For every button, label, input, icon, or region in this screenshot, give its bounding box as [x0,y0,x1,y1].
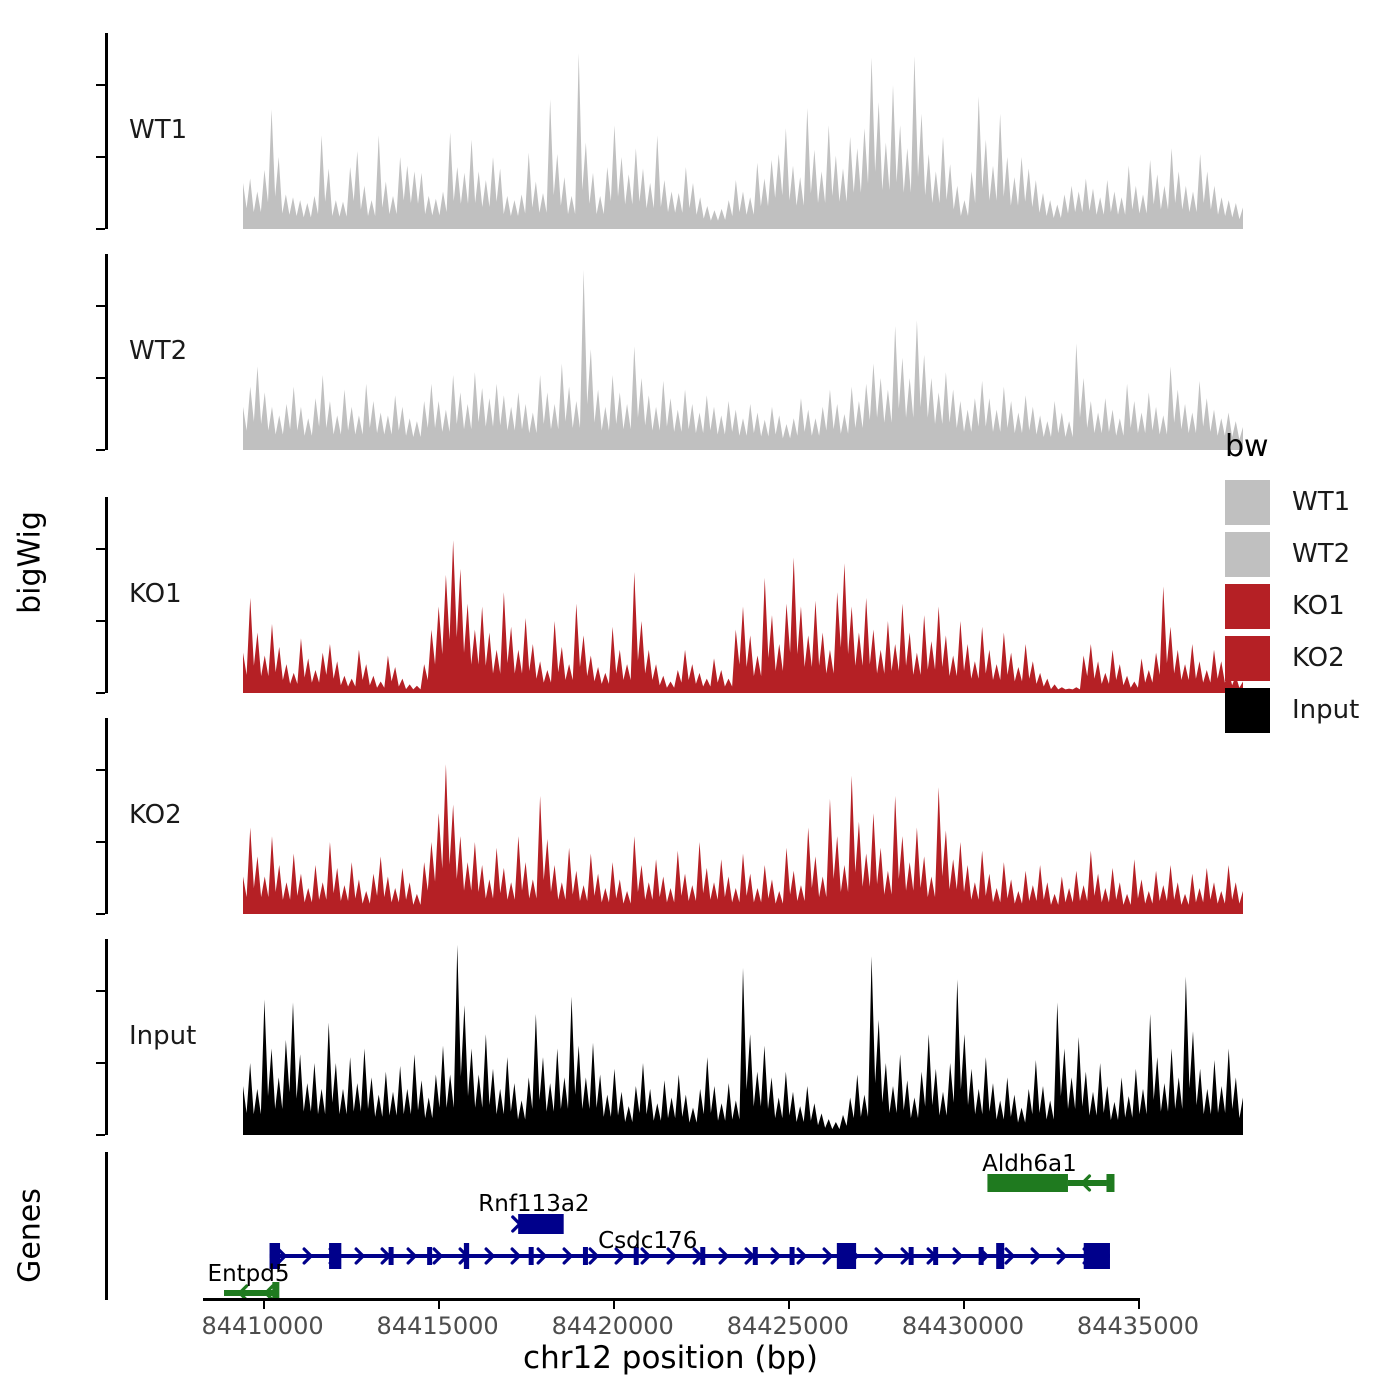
x-axis-tick-label: 84430000 [902,1312,1024,1340]
bigwig-panel-wt1: 0510WT1 [105,33,1243,229]
legend-swatch [1225,480,1270,525]
x-axis-tick-label: 84415000 [377,1312,499,1340]
gene-aldh6a1: Aldh6a1 [982,1152,1114,1192]
x-axis-tick [788,1298,790,1309]
genes-diagram: Aldh6a1Rnf113a2Csdc176Entpd5 [105,1152,1145,1300]
x-axis-tick-label: 84435000 [1077,1312,1199,1340]
y-axis-tick [96,1062,105,1064]
legend-item-wt1[interactable]: WT1 [1225,476,1395,528]
x-axis-line [203,1298,1138,1301]
x-axis-tick [613,1298,615,1309]
x-axis-tick-label: 84410000 [201,1312,323,1340]
x-axis-tick [438,1298,440,1309]
x-axis-tick-label: 84425000 [727,1312,849,1340]
x-axis-tick-label: 84420000 [552,1312,674,1340]
panel-label-wt1: WT1 [129,115,187,145]
coverage-track-ko1 [243,497,1243,695]
legend: bw WT1WT2KO1KO2Input [1225,432,1395,736]
gene-rnf113a2: Rnf113a2 [478,1191,589,1234]
gene-label-entpd5: Entpd5 [208,1261,290,1287]
y-axis-line [105,254,108,450]
y-axis-tick [96,377,105,379]
y-axis-tick [96,769,105,771]
y-axis-tick [96,990,105,992]
x-axis-tick [963,1298,965,1309]
y-axis-tick [96,913,105,915]
x-axis-title: chr12 position (bp) [203,1340,1138,1376]
y-axis-tick [96,84,105,86]
y-axis-line [105,718,108,914]
coverage-track-wt1 [243,33,1243,231]
bigwig-panel-input: 0510Input [105,939,1243,1135]
y-axis-line [105,939,108,1135]
y-axis-tick [96,841,105,843]
y-axis-tick [96,305,105,307]
legend-swatch [1225,532,1270,577]
gene-csdc176: Csdc176 [270,1228,1110,1269]
panel-label-input: Input [129,1021,196,1051]
panel-label-wt2: WT2 [129,336,187,366]
legend-item-wt2[interactable]: WT2 [1225,528,1395,580]
panel-label-ko1: KO1 [129,579,182,609]
legend-item-ko1[interactable]: KO1 [1225,580,1395,632]
legend-title: bw [1225,432,1395,462]
legend-swatch [1225,688,1270,733]
legend-label: KO1 [1292,591,1345,621]
y-axis-tick [96,620,105,622]
y-axis-line [105,33,108,229]
legend-label: WT1 [1292,487,1350,517]
legend-items: WT1WT2KO1KO2Input [1225,476,1395,736]
panel-label-ko2: KO2 [129,800,182,830]
y-axis-tick [96,156,105,158]
x-axis-tick [263,1298,265,1309]
legend-item-input[interactable]: Input [1225,684,1395,736]
legend-swatch [1225,636,1270,681]
gene-label-aldh6a1: Aldh6a1 [982,1152,1077,1177]
coverage-track-input [243,939,1243,1137]
legend-label: Input [1292,695,1359,725]
gene-label-csdc176: Csdc176 [598,1228,697,1254]
y-axis-tick [96,692,105,694]
genes-track: Aldh6a1Rnf113a2Csdc176Entpd5 [105,1152,1145,1300]
bigwig-panel-wt2: 0510WT2 [105,254,1243,450]
coverage-track-ko2 [243,718,1243,916]
y-axis-tick [96,228,105,230]
bigwig-panel-ko2: 0510KO2 [105,718,1243,914]
y-axis-line [105,497,108,693]
bigwig-panel-ko1: 0510KO1 [105,497,1243,693]
gene-label-rnf113a2: Rnf113a2 [478,1191,589,1217]
x-axis-tick [1138,1298,1140,1309]
y-axis-tick [96,1134,105,1136]
coverage-track-wt2 [243,254,1243,452]
legend-swatch [1225,584,1270,629]
legend-item-ko2[interactable]: KO2 [1225,632,1395,684]
gene-entpd5: Entpd5 [208,1261,290,1300]
legend-label: WT2 [1292,539,1350,569]
genes-axis-title: Genes [13,1171,48,1301]
bigwig-axis-title: bigWig [13,473,48,653]
legend-label: KO2 [1292,643,1345,673]
y-axis-tick [96,449,105,451]
y-axis-tick [96,548,105,550]
